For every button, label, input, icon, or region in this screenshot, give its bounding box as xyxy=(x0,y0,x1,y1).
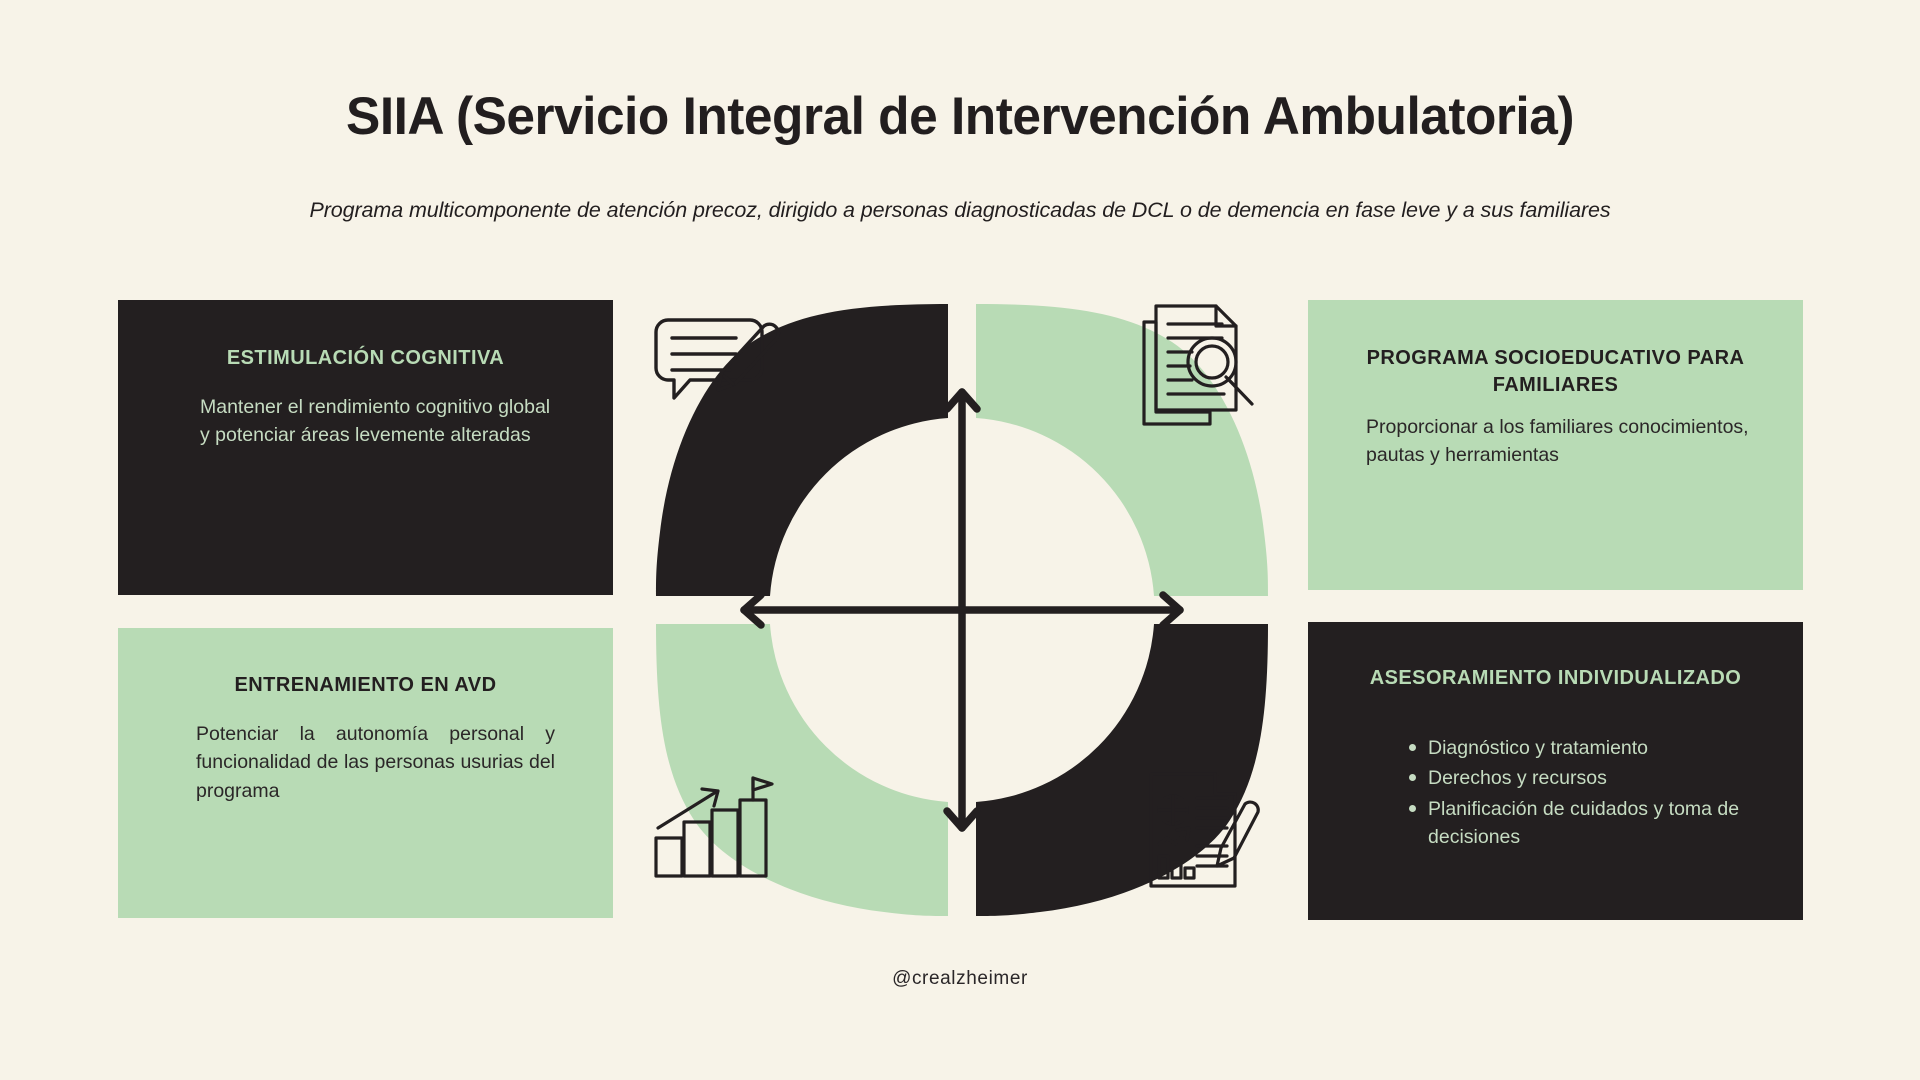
card-title: ENTRENAMIENTO EN AVD xyxy=(118,672,613,699)
card-entrenamiento-avd: ENTRENAMIENTO EN AVD Potenciar la autono… xyxy=(118,628,613,918)
list-item-label: Planificación de cuidados y toma de deci… xyxy=(1428,798,1739,848)
card-bullet-list: Diagnóstico y tratamientoDerechos y recu… xyxy=(1402,734,1773,851)
social-handle: @crealzheimer xyxy=(0,968,1920,990)
card-title: PROGRAMA SOCIOEDUCATIVO PARA FAMILIARES xyxy=(1338,345,1773,399)
card-programa-socioeducativo: PROGRAMA SOCIOEDUCATIVO PARA FAMILIARES … xyxy=(1308,300,1803,590)
card-body: Mantener el rendimiento cognitivo global… xyxy=(200,393,553,450)
card-asesoramiento-individualizado: ASESORAMIENTO INDIVIDUALIZADO Diagnóstic… xyxy=(1308,622,1803,920)
card-body: Diagnóstico y tratamientoDerechos y recu… xyxy=(1402,734,1773,853)
list-item: Diagnóstico y tratamiento xyxy=(1428,734,1773,762)
list-item-label: Diagnóstico y tratamiento xyxy=(1428,737,1648,759)
report-pencil-icon xyxy=(1145,768,1263,898)
growth-bar-chart-flag-icon xyxy=(650,772,778,890)
page-subtitle: Programa multicomponente de atención pre… xyxy=(0,198,1920,223)
list-item: Planificación de cuidados y toma de deci… xyxy=(1428,795,1773,852)
card-estimulacion-cognitiva: ESTIMULACIÓN COGNITIVA Mantener el rendi… xyxy=(118,300,613,595)
card-title: ESTIMULACIÓN COGNITIVA xyxy=(118,345,613,372)
bullet-icon xyxy=(1409,774,1416,781)
page-title: SIIA (Servicio Integral de Intervención … xyxy=(29,86,1891,147)
documents-magnifier-icon xyxy=(1140,300,1262,428)
list-item-label: Derechos y recursos xyxy=(1428,767,1607,789)
card-body: Potenciar la autonomía personal y funcio… xyxy=(196,720,555,805)
bullet-icon xyxy=(1409,744,1416,751)
speech-bubble-pencil-icon xyxy=(650,302,790,424)
list-item: Derechos y recursos xyxy=(1428,764,1773,792)
infographic-canvas: SIIA (Servicio Integral de Intervención … xyxy=(0,0,1920,1080)
bullet-icon xyxy=(1409,805,1416,812)
card-title: ASESORAMIENTO INDIVIDUALIZADO xyxy=(1348,665,1763,692)
card-body: Proporcionar a los familiares conocimien… xyxy=(1366,413,1763,470)
